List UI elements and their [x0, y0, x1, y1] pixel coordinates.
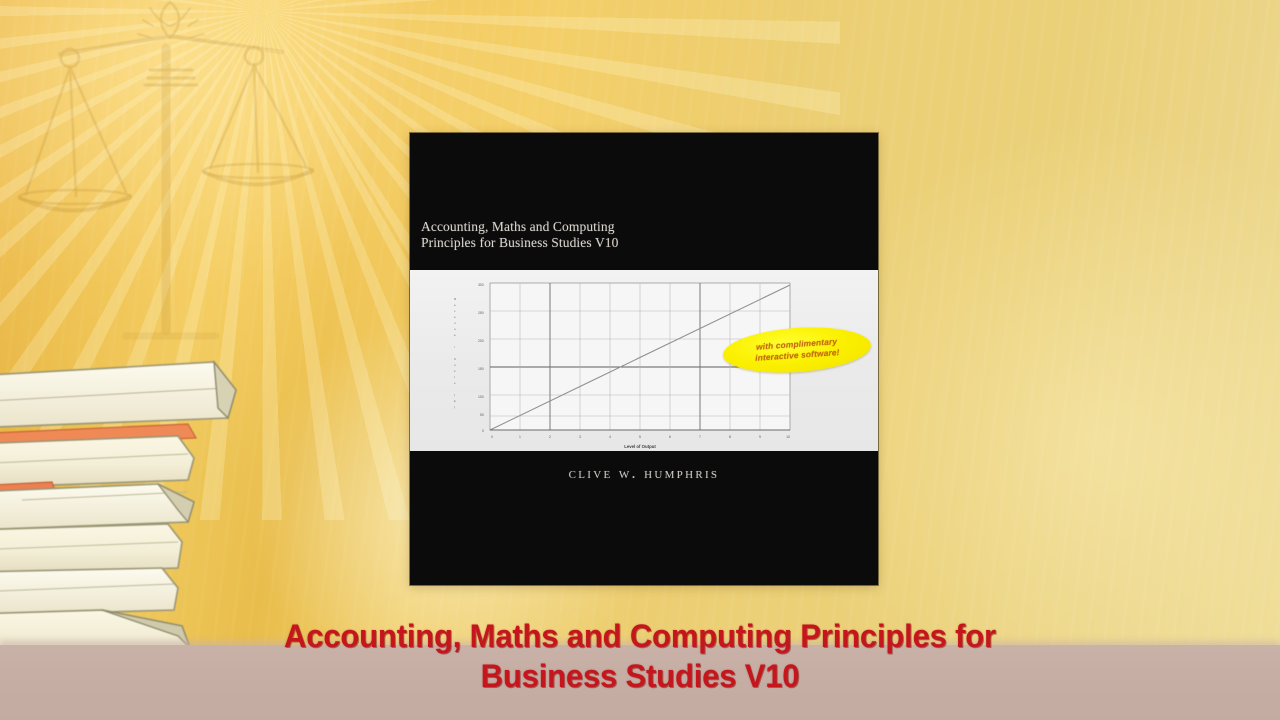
svg-text:2: 2 — [549, 435, 551, 439]
svg-text:250: 250 — [478, 311, 484, 315]
svg-text:200: 200 — [478, 339, 484, 343]
cover-title: Accounting, Maths and Computing Principl… — [421, 219, 751, 250]
svg-text:e: e — [454, 315, 456, 319]
svg-text:3: 3 — [579, 435, 581, 439]
svg-text:50: 50 — [480, 413, 484, 417]
svg-text:4: 4 — [609, 435, 611, 439]
svg-text:300: 300 — [478, 283, 484, 287]
stack-of-books-illustration — [0, 358, 260, 654]
svg-text:0: 0 — [491, 435, 493, 439]
cover-title-line-2: Principles for Business Studies V10 — [421, 235, 751, 251]
svg-text:t: t — [454, 375, 455, 379]
svg-text:n: n — [454, 321, 456, 325]
svg-text:7: 7 — [699, 435, 701, 439]
svg-text:): ) — [454, 405, 455, 409]
svg-text:e: e — [454, 303, 456, 307]
svg-text:e: e — [454, 333, 456, 337]
book-cover[interactable]: Accounting, Maths and Computing Principl… — [410, 133, 878, 585]
svg-text:s: s — [454, 369, 456, 373]
svg-text:1: 1 — [519, 435, 521, 439]
svg-text:o: o — [454, 363, 456, 367]
svg-text:(: ( — [454, 393, 455, 397]
svg-text:s: s — [454, 381, 456, 385]
svg-text:/: / — [454, 345, 455, 349]
page-title-line-2: Business Studies V10 — [19, 656, 1261, 696]
svg-text:R: R — [454, 297, 457, 301]
svg-text:£: £ — [454, 399, 456, 403]
svg-text:5: 5 — [639, 435, 641, 439]
cover-author: Clive W. Humphris — [410, 465, 878, 483]
page-title-line-1: Accounting, Maths and Computing Principl… — [19, 616, 1261, 656]
svg-text:v: v — [454, 309, 456, 313]
svg-text:u: u — [454, 327, 456, 331]
cover-title-line-1: Accounting, Maths and Computing — [421, 219, 615, 234]
svg-text:8: 8 — [729, 435, 731, 439]
page-title: Accounting, Maths and Computing Principl… — [19, 616, 1261, 696]
svg-text:10: 10 — [786, 435, 790, 439]
svg-text:C: C — [454, 357, 457, 361]
svg-text:150: 150 — [478, 367, 484, 371]
svg-text:0: 0 — [482, 429, 484, 433]
product-image-stage: Accounting, Maths and Computing Principl… — [0, 0, 1280, 720]
svg-text:6: 6 — [669, 435, 671, 439]
cover-chart-panel: 300 250 200 150 100 50 0 Rev enu e / — [410, 270, 878, 451]
svg-text:9: 9 — [759, 435, 761, 439]
svg-text:100: 100 — [478, 395, 484, 399]
svg-text:Level of Output: Level of Output — [624, 444, 656, 449]
